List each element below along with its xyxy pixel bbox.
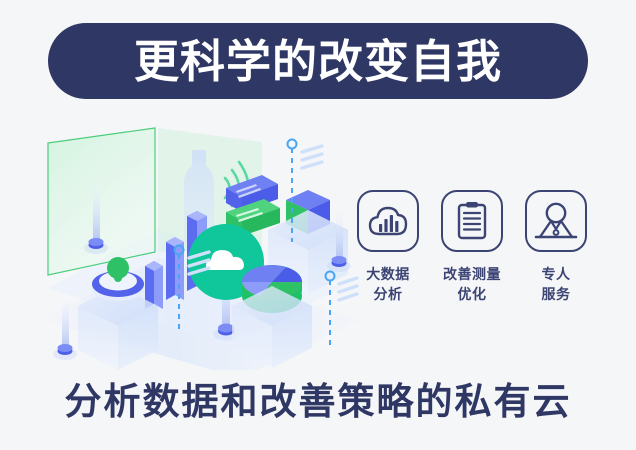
feature-label: 大数据 分析 — [366, 265, 410, 306]
feature-label-line-2: 优化 — [443, 285, 501, 305]
cloud-bar-chart-icon — [367, 203, 409, 239]
feature-label: 改善测量 优化 — [443, 265, 501, 306]
feature-label-line-1: 改善测量 — [443, 265, 501, 285]
feature-label-line-1: 大数据 — [366, 265, 410, 285]
clipboard-icon — [453, 200, 491, 242]
footer-tagline: 分析数据和改善策略的私有云 — [0, 382, 636, 423]
feature-icon-frame — [357, 190, 419, 252]
feature-icon-frame — [525, 190, 587, 252]
hero-illustration — [40, 120, 360, 370]
feature-label-line-2: 服务 — [542, 285, 571, 305]
feature-label: 专人 服务 — [542, 265, 571, 306]
title-banner: 更科学的改变自我 — [48, 23, 588, 99]
feature-item-big-data-analysis[interactable]: 大数据 分析 — [352, 190, 424, 330]
feature-label-line-2: 分析 — [366, 285, 410, 305]
feature-icon-frame — [441, 190, 503, 252]
poster-root: 更科学的改变自我 — [0, 0, 636, 450]
service-person-icon — [533, 201, 579, 241]
feature-list: 大数据 分析 改善测量 优化 — [352, 190, 592, 330]
feature-item-expert-service[interactable]: 专人 服务 — [520, 190, 592, 330]
page-title: 更科学的改变自我 — [134, 39, 502, 84]
feature-item-measurement-optimization[interactable]: 改善测量 优化 — [436, 190, 508, 330]
feature-label-line-1: 专人 — [542, 265, 571, 285]
